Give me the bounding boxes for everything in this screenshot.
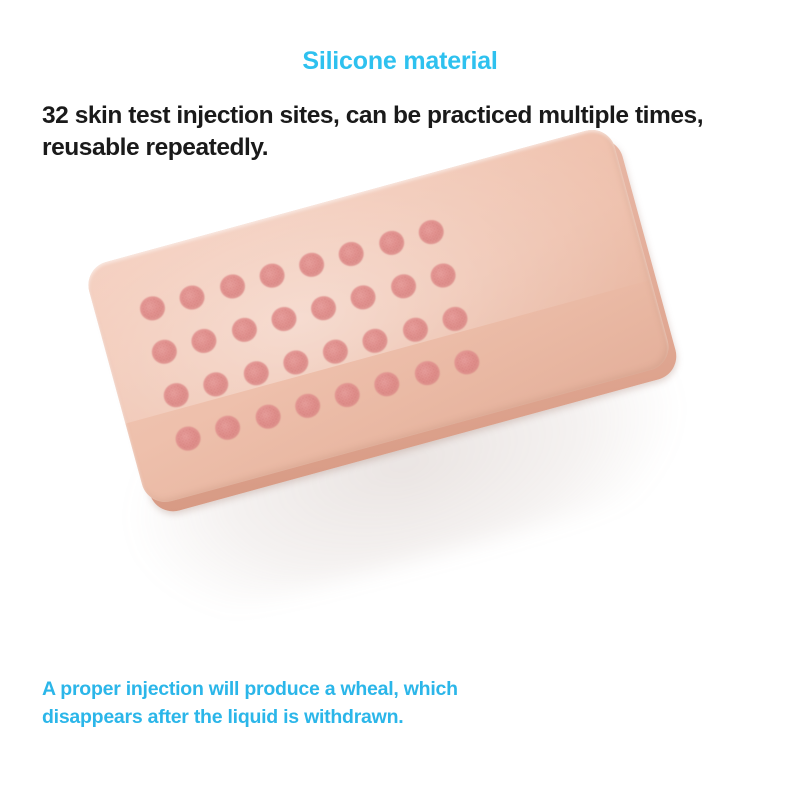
injection-site-dot [137, 293, 167, 323]
injection-site-dot [292, 391, 322, 421]
injection-site-dot [360, 325, 390, 355]
injection-site-dot [332, 380, 362, 410]
wheal-caption-text: A proper injection will produce a wheal,… [42, 676, 472, 731]
product-photo [60, 170, 740, 590]
injection-site-dot [280, 347, 310, 377]
injection-site-dot [213, 412, 243, 442]
injection-site-dot [308, 293, 338, 323]
headline-silicone-material: Silicone material [0, 48, 800, 76]
injection-site-dot [336, 239, 366, 269]
injection-site-dot [400, 314, 430, 344]
injection-site-dot [149, 336, 179, 366]
product-image-canvas: Silicone material 32 skin test injection… [0, 0, 800, 800]
injection-site-dot [173, 423, 203, 453]
injection-site-dot [161, 380, 191, 410]
injection-site-grid [127, 205, 493, 466]
injection-site-dot [388, 271, 418, 301]
injection-site-dot [428, 260, 458, 290]
injection-site-dot [201, 369, 231, 399]
injection-site-dot [412, 358, 442, 388]
injection-site-dot [217, 271, 247, 301]
injection-site-dot [440, 304, 470, 334]
injection-site-dot [348, 282, 378, 312]
injection-site-dot [416, 217, 446, 247]
injection-site-dot [229, 315, 259, 345]
injection-site-dot [189, 326, 219, 356]
injection-site-dot [241, 358, 271, 388]
injection-site-dot [257, 260, 287, 290]
injection-site-dot [372, 369, 402, 399]
injection-site-dot [252, 401, 282, 431]
injection-site-dot [268, 304, 298, 334]
injection-site-dot [296, 249, 326, 279]
injection-site-dot [177, 282, 207, 312]
injection-site-dot [320, 336, 350, 366]
injection-site-dot [376, 228, 406, 258]
injection-site-dot [451, 347, 481, 377]
